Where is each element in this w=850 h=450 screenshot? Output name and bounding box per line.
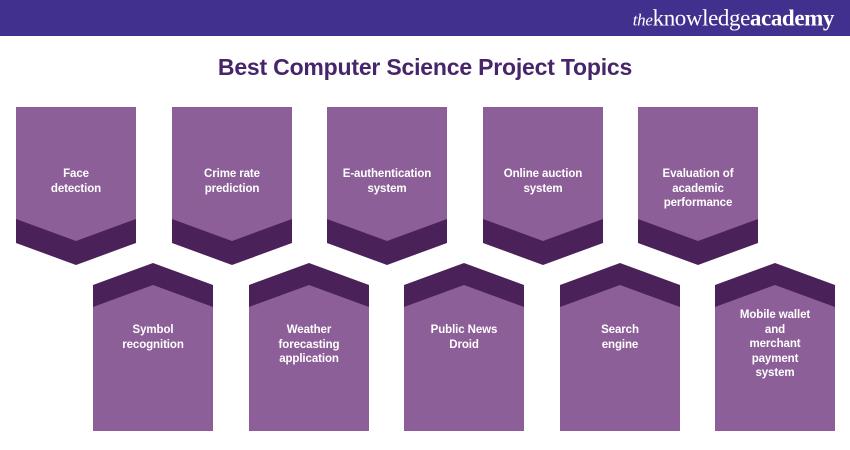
banner-top-row-3[interactable]: E-authentication system <box>327 107 447 267</box>
project-topics-diagram: Face detectionCrime rate predictionE-aut… <box>0 0 850 450</box>
banner-bottom-row-2[interactable]: Weather forecasting application <box>249 263 369 433</box>
banner-bottom-row-3[interactable]: Public News Droid <box>404 263 524 433</box>
banner-body <box>93 285 213 431</box>
banner-top-row-4[interactable]: Online auction system <box>483 107 603 267</box>
banner-bottom-row-1[interactable]: Symbol recognition <box>93 263 213 433</box>
banner-top-row-1[interactable]: Face detection <box>16 107 136 267</box>
banner-body <box>404 285 524 431</box>
banner-bottom-row-5[interactable]: Mobile wallet and merchant payment syste… <box>715 263 835 433</box>
banner-label: Mobile wallet and merchant payment syste… <box>715 308 835 381</box>
banner-label: Weather forecasting application <box>249 323 369 367</box>
banner-label: Symbol recognition <box>93 323 213 352</box>
banner-label: Crime rate prediction <box>172 167 292 196</box>
banner-label: E-authentication system <box>327 167 447 196</box>
banner-bottom-row-4[interactable]: Search engine <box>560 263 680 433</box>
banner-label: Evaluation of academic performance <box>638 167 758 211</box>
banner-top-row-5[interactable]: Evaluation of academic performance <box>638 107 758 267</box>
banner-label: Face detection <box>16 167 136 196</box>
banner-label: Public News Droid <box>404 323 524 352</box>
banner-top-row-2[interactable]: Crime rate prediction <box>172 107 292 267</box>
banner-label: Search engine <box>560 323 680 352</box>
banner-body <box>560 285 680 431</box>
banner-label: Online auction system <box>483 167 603 196</box>
